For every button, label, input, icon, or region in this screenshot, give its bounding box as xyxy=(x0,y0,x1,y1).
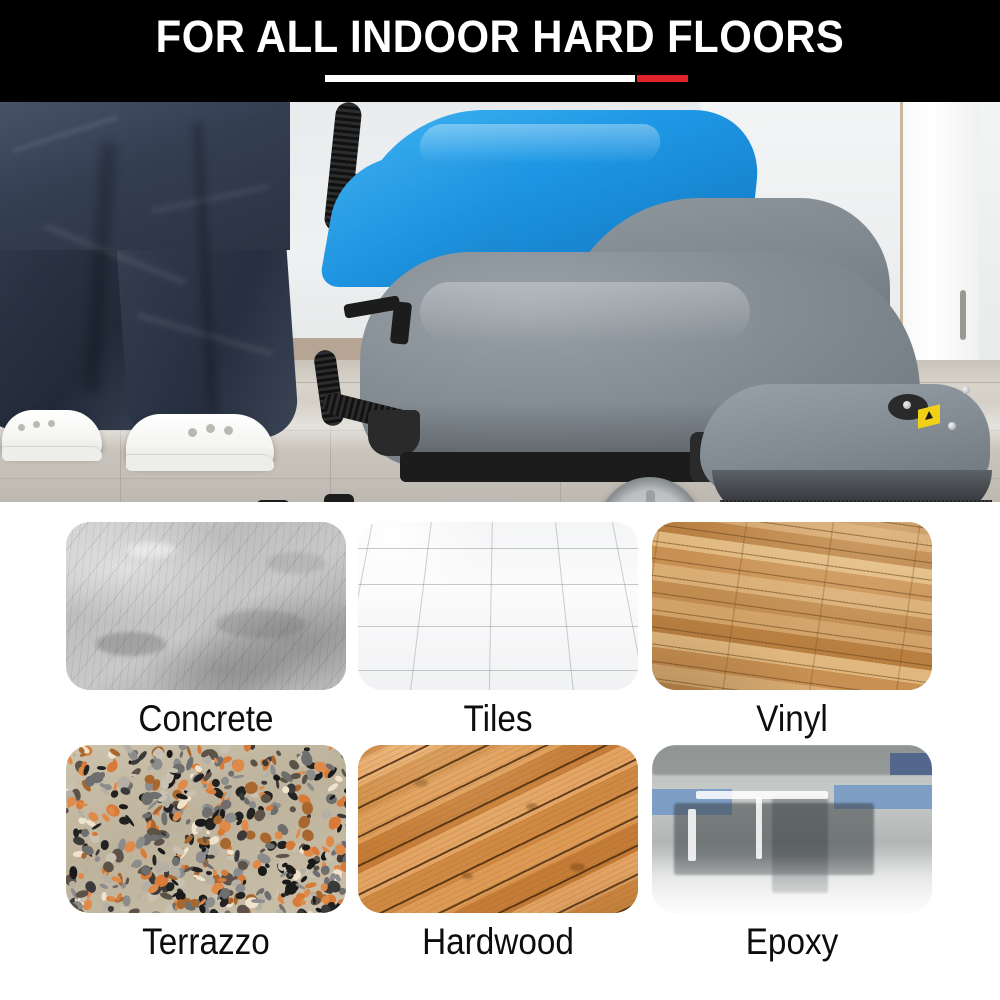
terrazzo-chip xyxy=(288,805,296,813)
shoe-vent-hole xyxy=(188,428,197,437)
terrazzo-chip xyxy=(139,848,149,861)
floor-type-label: Vinyl xyxy=(666,696,918,742)
terrazzo-chip xyxy=(300,899,307,905)
terrazzo-chip xyxy=(84,868,90,875)
terrazzo-chip xyxy=(217,745,232,756)
shoe-sole xyxy=(2,446,102,461)
hardwood-swatch xyxy=(358,745,638,913)
epoxy-white-reflection xyxy=(756,797,762,859)
hose-elbow xyxy=(368,410,420,456)
terrazzo-chip xyxy=(176,899,186,910)
terrazzo-chip xyxy=(260,794,271,804)
tile-grout-line xyxy=(358,670,638,671)
concrete-stain xyxy=(266,552,326,574)
concrete-highlight xyxy=(126,542,176,558)
terrazzo-chip xyxy=(270,755,277,765)
terrazzo-chip xyxy=(165,841,169,847)
terrazzo-chip xyxy=(275,832,283,840)
terrazzo-chip xyxy=(334,775,343,783)
epoxy-white-reflection xyxy=(688,809,696,861)
terrazzo-chip xyxy=(100,840,108,850)
wood-knot xyxy=(570,863,585,871)
terrazzo-swatch xyxy=(66,745,346,913)
concrete-stain xyxy=(96,632,166,656)
hero-photo xyxy=(0,102,1000,502)
door-handle xyxy=(960,290,966,340)
terrazzo-chip xyxy=(95,910,106,913)
terrazzo-chip xyxy=(106,760,121,774)
terrazzo-chip xyxy=(326,835,335,847)
epoxy-white-reflection xyxy=(696,791,828,799)
terrazzo-chip xyxy=(161,812,168,826)
wood-knot xyxy=(462,873,473,879)
terrazzo-chip xyxy=(224,909,231,913)
deck-screw xyxy=(903,401,911,409)
terrazzo-chip xyxy=(261,780,267,785)
floor-type-card-hardwood[interactable]: Hardwood xyxy=(358,745,638,965)
terrazzo-chip xyxy=(118,804,128,810)
terrazzo-chip xyxy=(275,749,281,756)
chassis-bar xyxy=(400,452,730,482)
terrazzo-chip xyxy=(205,831,210,835)
floor-type-label: Hardwood xyxy=(372,919,624,965)
vinyl-swatch xyxy=(652,522,932,690)
floor-type-label: Tiles xyxy=(372,696,624,742)
header-divider-white xyxy=(325,75,635,82)
tiles-swatch xyxy=(358,522,638,690)
terrazzo-chip xyxy=(243,879,248,885)
floor-type-card-terrazzo[interactable]: Terrazzo xyxy=(66,745,346,965)
terrazzo-chip xyxy=(122,895,131,907)
terrazzo-chip xyxy=(249,758,259,768)
terrazzo-chip xyxy=(195,851,205,863)
shoe-vent-hole xyxy=(206,424,215,433)
terrazzo-chip xyxy=(227,849,234,855)
terrazzo-chip xyxy=(94,855,101,863)
terrazzo-chip xyxy=(197,745,202,754)
floor-type-card-tiles[interactable]: Tiles xyxy=(358,522,638,742)
terrazzo-chip xyxy=(68,880,76,887)
terrazzo-chip xyxy=(313,866,319,871)
wheel-spoke xyxy=(646,490,655,502)
tile-grout-line xyxy=(358,626,638,627)
wood-knot xyxy=(414,779,428,787)
body-highlight xyxy=(420,282,750,342)
shoe-vent-hole xyxy=(224,426,233,435)
header-banner: FOR ALL INDOOR HARD FLOORS xyxy=(0,0,1000,102)
floor-type-label: Concrete xyxy=(80,696,332,742)
terrazzo-chip xyxy=(148,755,165,772)
terrazzo-chip xyxy=(218,878,227,882)
terrazzo-chip xyxy=(167,750,173,758)
terrazzo-chip xyxy=(160,891,174,900)
terrazzo-chip xyxy=(237,861,248,871)
terrazzo-chip xyxy=(119,816,130,824)
concrete-swatch xyxy=(66,522,346,690)
epoxy-gloss-sheen xyxy=(652,855,932,913)
terrazzo-chip xyxy=(152,855,157,866)
floor-type-label: Epoxy xyxy=(666,919,918,965)
wood-knot xyxy=(526,803,538,810)
header-divider-red xyxy=(637,75,688,82)
terrazzo-chip xyxy=(163,904,175,913)
tile-gloss-reflection xyxy=(358,522,488,612)
terrazzo-chip xyxy=(258,785,265,790)
terrazzo-chip xyxy=(129,908,141,913)
concrete-stain xyxy=(216,610,306,638)
floor-type-card-concrete[interactable]: Concrete xyxy=(66,522,346,742)
terrazzo-chip xyxy=(112,884,119,889)
terrazzo-chip xyxy=(345,823,346,828)
terrazzo-chip xyxy=(185,818,192,825)
terrazzo-chip xyxy=(290,772,300,778)
terrazzo-chip xyxy=(344,784,346,795)
terrazzo-chip xyxy=(179,750,184,757)
terrazzo-chip xyxy=(300,827,316,843)
deck-bumper-ring xyxy=(712,470,992,502)
deck-screw xyxy=(948,422,956,430)
shoe-sole xyxy=(126,454,274,471)
terrazzo-chip xyxy=(306,782,315,792)
page-title: FOR ALL INDOOR HARD FLOORS xyxy=(35,12,965,62)
terrazzo-chip xyxy=(137,894,142,900)
terrazzo-chip xyxy=(149,909,163,913)
terrazzo-chip xyxy=(276,854,290,859)
tile-grout-line xyxy=(358,548,638,549)
squeegee-knob-right xyxy=(324,494,354,502)
shoe-vent-hole xyxy=(18,424,25,431)
terrazzo-chip xyxy=(157,847,167,856)
terrazzo-chip xyxy=(251,899,264,903)
tank-highlight xyxy=(417,124,663,164)
terrazzo-chip xyxy=(73,753,77,758)
terrazzo-chip xyxy=(78,873,85,880)
terrazzo-chip xyxy=(178,745,187,751)
terrazzo-chip xyxy=(97,766,107,770)
terrazzo-chip xyxy=(129,773,141,778)
epoxy-horizon-band xyxy=(652,745,932,775)
terrazzo-chip xyxy=(263,770,271,779)
terrazzo-chip xyxy=(233,774,245,779)
floor-type-card-epoxy[interactable]: Epoxy xyxy=(652,745,932,965)
terrazzo-chip xyxy=(146,765,153,770)
floor-types-grid: Concrete Tiles Vinyl xyxy=(0,502,1000,1000)
shoe-vent-hole xyxy=(33,421,40,428)
terrazzo-chip xyxy=(207,855,215,859)
infographic-page: FOR ALL INDOOR HARD FLOORS xyxy=(0,0,1000,1000)
terrazzo-chip xyxy=(79,752,86,757)
epoxy-swatch xyxy=(652,745,932,913)
floor-type-label: Terrazzo xyxy=(80,919,332,965)
terrazzo-chip xyxy=(125,877,129,884)
deck-screw xyxy=(962,386,970,394)
terrazzo-chip xyxy=(171,856,181,866)
shoe-vent-hole xyxy=(48,420,55,427)
terrazzo-chip xyxy=(301,801,315,817)
terrazzo-chip xyxy=(108,895,115,900)
floor-type-card-vinyl[interactable]: Vinyl xyxy=(652,522,932,742)
tile-grout-line xyxy=(358,584,638,585)
